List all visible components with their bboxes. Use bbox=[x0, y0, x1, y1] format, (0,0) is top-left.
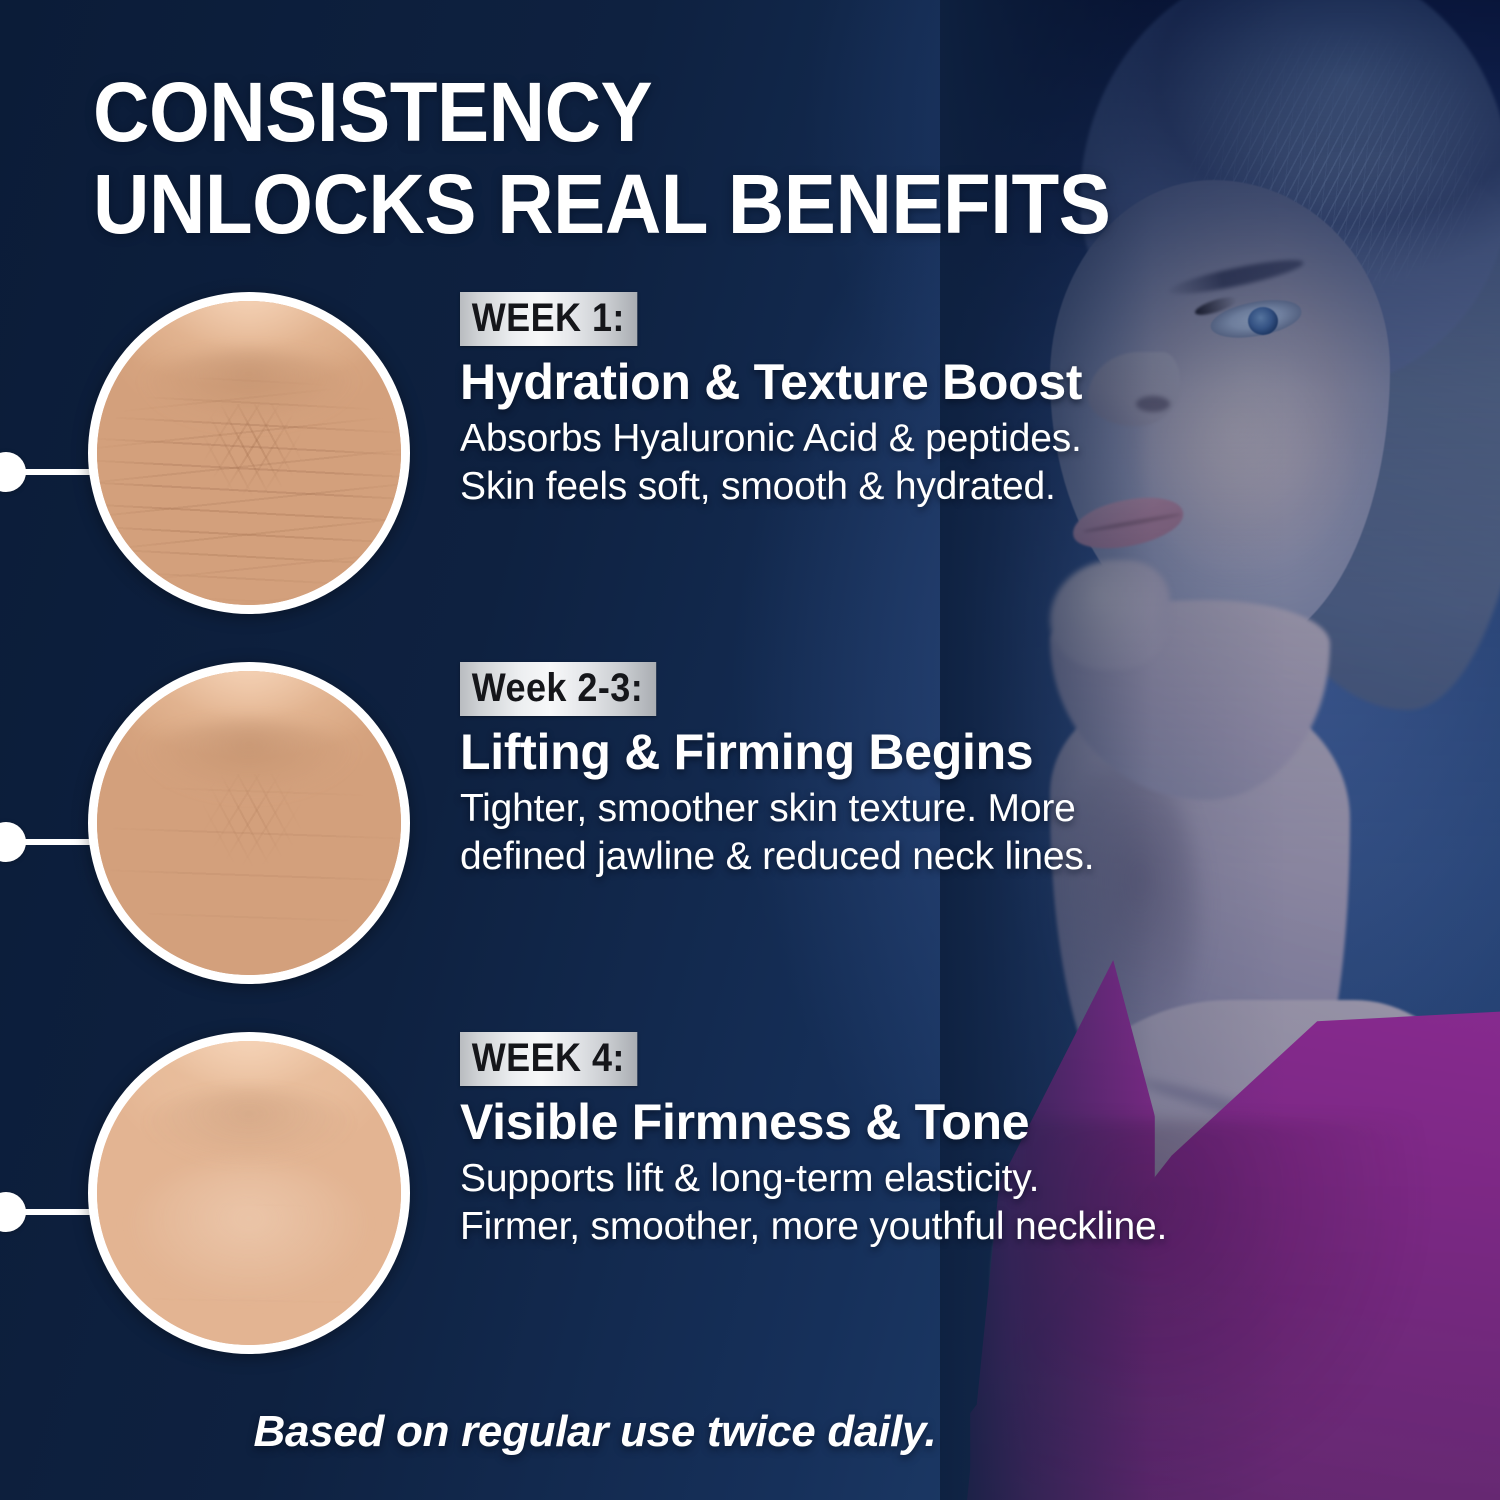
step-text-week-2-3: Week 2-3: Lifting & Firming Begins Tight… bbox=[460, 662, 1260, 881]
connector-week-1 bbox=[0, 452, 100, 492]
connector-week-2-3 bbox=[0, 822, 100, 862]
step-description-week-4: Supports lift & long-term elasticity. Fi… bbox=[460, 1155, 1260, 1251]
benefit-timeline: WEEK 1: Hydration & Texture Boost Absorb… bbox=[0, 0, 1500, 1500]
skin-wrinkles-vee bbox=[200, 404, 303, 507]
description-line-2: Firmer, smoother, more youthful neckline… bbox=[460, 1203, 1260, 1251]
status-badge-week-4: WEEK 4: bbox=[460, 1032, 637, 1086]
photo-crop bbox=[97, 301, 401, 605]
skin-wrinkles-vee bbox=[200, 774, 303, 877]
step-title-week-1: Hydration & Texture Boost bbox=[460, 353, 1260, 411]
step-text-week-4: WEEK 4: Visible Firmness & Tone Supports… bbox=[460, 1032, 1260, 1251]
before-after-photo-week-4 bbox=[88, 1032, 410, 1354]
description-line-2: defined jawline & reduced neck lines. bbox=[460, 833, 1260, 881]
step-description-week-2-3: Tighter, smoother skin texture. More def… bbox=[460, 785, 1260, 881]
step-title-week-4: Visible Firmness & Tone bbox=[460, 1093, 1260, 1151]
step-text-week-1: WEEK 1: Hydration & Texture Boost Absorb… bbox=[460, 292, 1260, 511]
step-title-week-2-3: Lifting & Firming Begins bbox=[460, 723, 1260, 781]
description-line-1: Tighter, smoother skin texture. More bbox=[460, 785, 1260, 833]
status-badge-week-1: WEEK 1: bbox=[460, 292, 637, 346]
description-line-2: Skin feels soft, smooth & hydrated. bbox=[460, 463, 1260, 511]
step-description-week-1: Absorbs Hyaluronic Acid & peptides. Skin… bbox=[460, 415, 1260, 511]
photo-crop bbox=[97, 1041, 401, 1345]
photo-crop bbox=[97, 671, 401, 975]
before-after-photo-week-2-3 bbox=[88, 662, 410, 984]
infographic-canvas: CONSISTENCY UNLOCKS REAL BENEFITS WEEK bbox=[0, 0, 1500, 1500]
before-after-photo-week-1 bbox=[88, 292, 410, 614]
skin-glow-sheen bbox=[127, 1163, 370, 1303]
status-badge-week-2-3: Week 2-3: bbox=[460, 662, 656, 716]
description-line-1: Supports lift & long-term elasticity. bbox=[460, 1155, 1260, 1203]
connector-week-4 bbox=[0, 1192, 100, 1232]
footnote-disclaimer: Based on regular use twice daily. bbox=[0, 1406, 1190, 1458]
description-line-1: Absorbs Hyaluronic Acid & peptides. bbox=[460, 415, 1260, 463]
